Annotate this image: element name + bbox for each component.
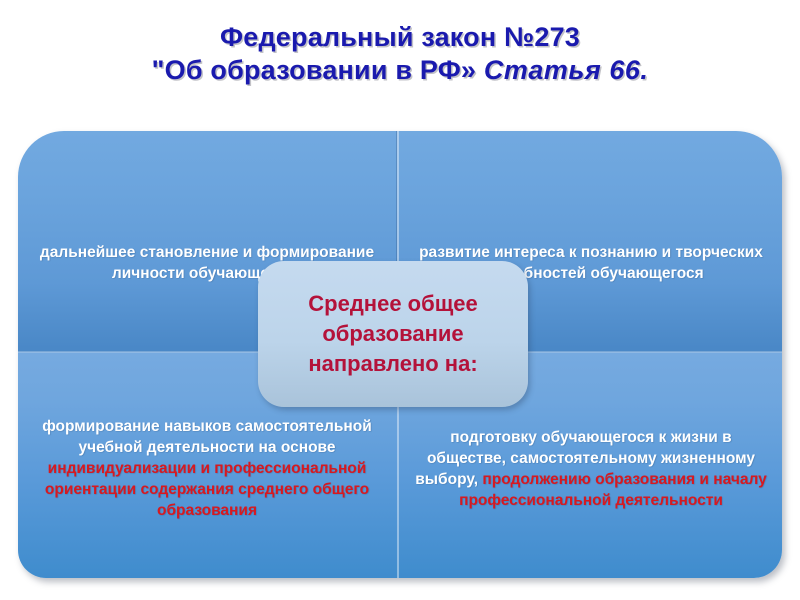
center-callout-box[interactable]: Среднее общее образование направлено на:: [258, 261, 528, 407]
quadrant-bottom-left-segment-0: формирование навыков самостоятельной уче…: [42, 418, 372, 456]
center-callout-text: Среднее общее образование направлено на:: [308, 289, 477, 379]
page-title-line-2: "Об образовании в РФ» Статья 66.: [0, 55, 800, 86]
page-title-article: Статья 66.: [484, 55, 649, 85]
page-title-law-name: "Об образовании в РФ»: [152, 55, 477, 85]
quadrant-bottom-left-text: формирование навыков самостоятельной уче…: [32, 416, 382, 521]
quadrant-bottom-left-segment-1-highlight: индивидуализации и профессиональной орие…: [45, 460, 369, 519]
page-title: Федеральный закон №273 "Об образовании в…: [0, 22, 800, 86]
quadrant-bottom-right-segment-1-highlight: продолжению образования и началу професс…: [459, 471, 767, 509]
quadrant-bottom-right-text: подготовку обучающегося к жизни в общест…: [414, 427, 768, 511]
page-title-line-1: Федеральный закон №273: [0, 22, 800, 53]
